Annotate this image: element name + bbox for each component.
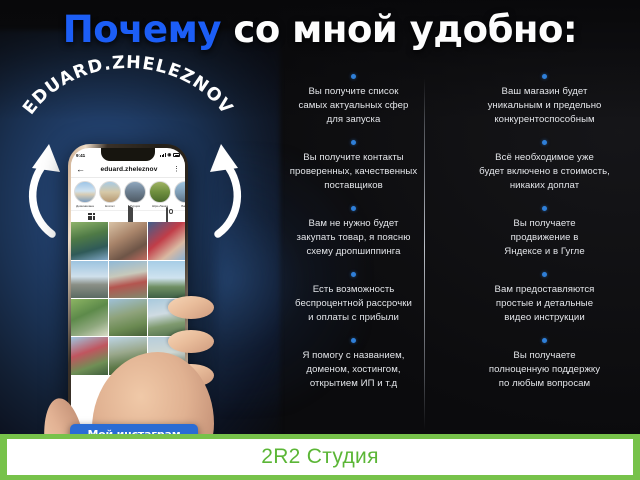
- footer-brand-label: 2R2 Студия: [261, 445, 379, 469]
- bullet-dot-icon: [542, 338, 547, 343]
- page-title-highlight: Почему: [63, 8, 221, 51]
- story-highlight-label: Доминикана: [74, 204, 96, 208]
- benefit-item: Я помогу с названием, доменом, хостингом…: [258, 338, 449, 391]
- bullet-dot-icon: [351, 338, 356, 343]
- benefits-columns: Вы получите список самых актуальных сфер…: [258, 72, 640, 432]
- footer-band: 2R2 Студия: [0, 434, 640, 480]
- story-highlight-item[interactable]: Доминикана: [74, 181, 96, 208]
- benefits-column-right: Ваш магазин будет уникальным и предельно…: [449, 72, 640, 432]
- phone-showcase: EDUARD.ZHELEZNOV 9:41: [0, 62, 258, 480]
- story-highlight-item[interactable]: Египет: [99, 181, 121, 208]
- page-title: Почему со мной удобно:: [0, 8, 640, 52]
- benefit-text: Вы получите список самых актуальных сфер…: [258, 85, 449, 127]
- benefit-item: Вам предоставляются простые и детальные …: [449, 272, 640, 325]
- page-title-rest: со мной удобно:: [233, 8, 577, 51]
- curved-arrow-right-icon: [196, 138, 252, 242]
- story-highlight-thumb: [124, 181, 146, 203]
- promo-slide: Почему со мной удобно: EDUARD.ZHELEZNOV: [0, 0, 640, 480]
- story-highlights-row[interactable]: Доминикана Египет Турция Шри-Ланка: [71, 178, 185, 210]
- photo-grid-item[interactable]: [71, 337, 108, 374]
- profile-tab-bar[interactable]: [71, 210, 185, 222]
- profile-handle: eduard.zheleznov: [90, 166, 168, 173]
- benefit-text: Вам не нужно будет закупать товар, я поя…: [258, 217, 449, 259]
- benefit-text: Вы получаете полноценную поддержку по лю…: [449, 349, 640, 391]
- benefit-text: Вам предоставляются простые и детальные …: [449, 283, 640, 325]
- arc-brand-label: EDUARD.ZHELEZNOV: [19, 53, 236, 119]
- story-highlight-thumb: [99, 181, 121, 203]
- photo-grid-item[interactable]: [109, 222, 146, 259]
- photo-grid-item[interactable]: [71, 261, 108, 298]
- benefit-item: Вам не нужно будет закупать товар, я поя…: [258, 206, 449, 259]
- story-highlight-item[interactable]: Турция: [124, 181, 146, 208]
- curved-arrow-left-icon: [18, 138, 74, 242]
- bullet-dot-icon: [542, 272, 547, 277]
- arrow-left-icon[interactable]: ←: [76, 165, 85, 174]
- status-bar: 9:41 ◉: [71, 148, 185, 162]
- bullet-dot-icon: [351, 272, 356, 277]
- bullet-dot-icon: [351, 74, 356, 79]
- benefit-item: Вы получаете полноценную поддержку по лю…: [449, 338, 640, 391]
- photo-grid-item[interactable]: [71, 299, 108, 336]
- story-highlight-label: Турция: [124, 204, 146, 208]
- kebab-menu-icon[interactable]: ⋮: [173, 166, 180, 173]
- battery-full-icon: [173, 153, 180, 157]
- bullet-dot-icon: [542, 140, 547, 145]
- benefit-item: Вы получаете продвижение в Яндексе и в Г…: [449, 206, 640, 259]
- story-highlight-thumb: [74, 181, 96, 203]
- benefit-item: Всё необходимое уже будет включено в сто…: [449, 140, 640, 193]
- column-divider: [424, 78, 425, 430]
- story-highlight-thumb: [174, 181, 185, 203]
- story-highlight-label: Египет: [99, 204, 121, 208]
- benefit-text: Вы получите контакты проверенных, качест…: [258, 151, 449, 193]
- photo-grid-item[interactable]: [109, 261, 146, 298]
- photo-grid-item[interactable]: [148, 261, 185, 298]
- bullet-dot-icon: [351, 206, 356, 211]
- benefits-column-left: Вы получите список самых актуальных сфер…: [258, 72, 449, 432]
- benefit-text: Вы получаете продвижение в Яндексе и в Г…: [449, 217, 640, 259]
- story-highlight-item[interactable]: Бали: [174, 181, 185, 208]
- photo-grid-item[interactable]: [148, 222, 185, 259]
- benefit-item: Ваш магазин будет уникальным и предельно…: [449, 74, 640, 127]
- photo-grid[interactable]: [71, 222, 185, 374]
- benefit-text: Всё необходимое уже будет включено в сто…: [449, 151, 640, 193]
- profile-nav-bar: ← eduard.zheleznov ⋮: [71, 162, 185, 178]
- benefit-text: Есть возможность беспроцентной рассрочки…: [258, 283, 449, 325]
- bullet-dot-icon: [542, 206, 547, 211]
- signal-bars-icon: [160, 153, 166, 157]
- wifi-icon: ◉: [167, 153, 171, 158]
- benefit-text: Ваш магазин будет уникальным и предельно…: [449, 85, 640, 127]
- story-highlight-thumb: [149, 181, 171, 203]
- footer-inner: 2R2 Студия: [7, 439, 633, 475]
- photo-grid-item[interactable]: [109, 299, 146, 336]
- benefit-item: Вы получите контакты проверенных, качест…: [258, 140, 449, 193]
- photo-grid-item[interactable]: [71, 222, 108, 259]
- story-highlight-item[interactable]: Шри-Ланка: [149, 181, 171, 208]
- status-bar-time: 9:41: [76, 153, 85, 158]
- bullet-dot-icon: [351, 140, 356, 145]
- benefit-text: Я помогу с названием, доменом, хостингом…: [258, 349, 449, 391]
- photo-grid-item[interactable]: [148, 299, 185, 336]
- benefit-item: Есть возможность беспроцентной рассрочки…: [258, 272, 449, 325]
- benefit-item: Вы получите список самых актуальных сфер…: [258, 74, 449, 127]
- story-highlight-label: Бали: [174, 204, 185, 208]
- photo-grid-item[interactable]: [109, 337, 146, 374]
- photo-grid-item[interactable]: [148, 337, 185, 374]
- bullet-dot-icon: [542, 74, 547, 79]
- grid-icon[interactable]: [88, 213, 95, 220]
